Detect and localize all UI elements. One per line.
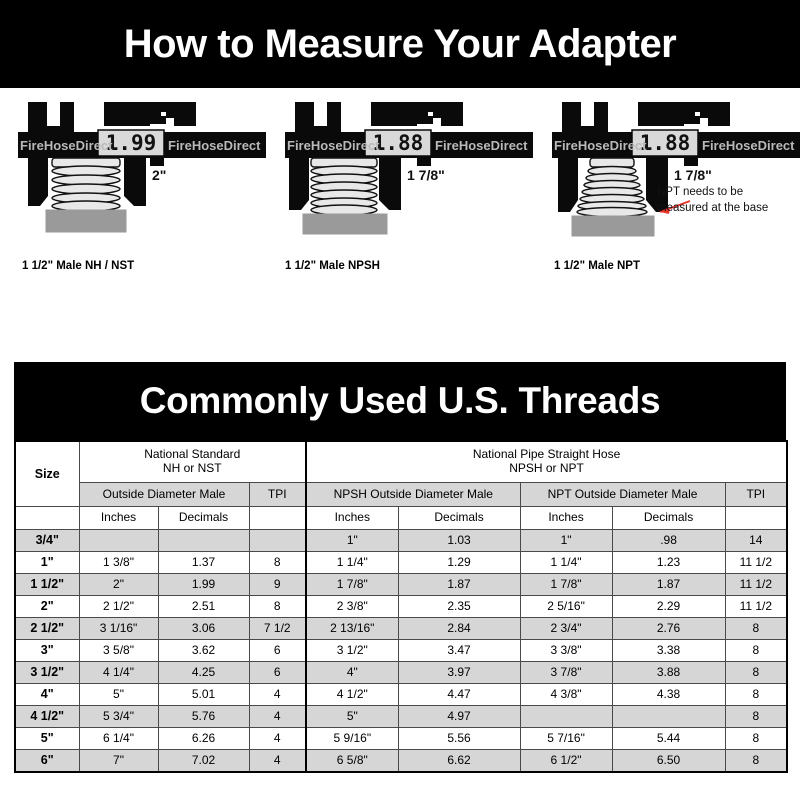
cell-npt-tpi: 11 1/2 (725, 552, 787, 574)
table-row: 6"7"7.0246 5/8"6.626 1/2"6.508 (15, 750, 787, 773)
cell-npsh-decimals: 1.03 (398, 530, 520, 552)
col-group-national-standard: National Standard NH or NST (79, 441, 306, 483)
caliper-illustration-npt: 1.88 FireHoseDirect FireHoseDirect 1 7/8… (534, 88, 800, 268)
table-row: 3"3 5/8"3.6263 1/2"3.473 3/8"3.388 (15, 640, 787, 662)
watermark-left: FireHoseDirect (20, 138, 113, 153)
table-title: Commonly Used U.S. Threads (140, 380, 661, 422)
measurement-label-nh-nst: 2" (152, 167, 166, 183)
cell-npt-decimals: 2.29 (612, 596, 725, 618)
table-row: 3/4"1"1.031".9814 (15, 530, 787, 552)
cell-npt-tpi: 8 (725, 684, 787, 706)
watermark-right: FireHoseDirect (435, 138, 528, 153)
cell-npt-tpi: 8 (725, 662, 787, 684)
cell-npsh-inches: 2 3/8" (306, 596, 398, 618)
diagram-npsh: 1.88 FireHoseDirect FireHoseDirect 1 7/8… (267, 88, 533, 350)
table-row: 1"1 3/8"1.3781 1/4"1.291 1/4"1.2311 1/2 (15, 552, 787, 574)
cell-npsh-decimals: 2.84 (398, 618, 520, 640)
cell-npsh-inches: 4" (306, 662, 398, 684)
cell-nh-inches: 5" (79, 684, 158, 706)
cell-npt-decimals: 1.23 (612, 552, 725, 574)
npt-annotation: NPT needs to be measured at the base (657, 185, 768, 216)
col-header-npsh-inches: Inches (306, 507, 398, 530)
cell-npsh-decimals: 1.29 (398, 552, 520, 574)
caliper-illustration-npsh: 1.88 FireHoseDirect FireHoseDirect 1 7/8… (267, 88, 533, 268)
cell-nh-inches: 5 3/4" (79, 706, 158, 728)
cell-size: 4" (15, 684, 79, 706)
cell-npt-tpi: 11 1/2 (725, 596, 787, 618)
table-header-row-subs: Outside Diameter Male TPI NPSH Outside D… (15, 483, 787, 507)
col-header-nh-decimals: Decimals (158, 507, 249, 530)
cell-nh-inches: 7" (79, 750, 158, 773)
caliper-illustration-nh-nst: 1.99 FireHoseDirect FireHoseDirect 2" (0, 88, 266, 268)
measurement-label-npt: 1 7/8" (674, 167, 712, 183)
cell-nh-decimals: 7.02 (158, 750, 249, 773)
cell-nh-inches: 2" (79, 574, 158, 596)
cell-nh-tpi: 9 (249, 574, 306, 596)
cell-nh-tpi: 6 (249, 662, 306, 684)
cell-npsh-inches: 2 13/16" (306, 618, 398, 640)
cell-size: 3/4" (15, 530, 79, 552)
cell-npsh-inches: 1" (306, 530, 398, 552)
col-header-size: Size (15, 441, 79, 507)
group-line-1: National Standard (80, 448, 306, 462)
table-header-row-units: Inches Decimals Inches Decimals Inches D… (15, 507, 787, 530)
cell-npt-inches: 5 7/16" (520, 728, 612, 750)
diagram-npt: 1.88 FireHoseDirect FireHoseDirect 1 7/8… (534, 88, 800, 350)
cell-nh-tpi: 4 (249, 684, 306, 706)
cell-size: 5" (15, 728, 79, 750)
table-body: 3/4"1"1.031".98141"1 3/8"1.3781 1/4"1.29… (15, 530, 787, 773)
cell-npt-inches: 1" (520, 530, 612, 552)
col-header-npt-inches: Inches (520, 507, 612, 530)
cell-npsh-decimals: 6.62 (398, 750, 520, 773)
cell-npt-inches: 3 3/8" (520, 640, 612, 662)
group-line-2: NH or NST (80, 462, 306, 476)
cell-nh-decimals (158, 530, 249, 552)
page-title: How to Measure Your Adapter (124, 22, 677, 67)
cell-nh-tpi: 7 1/2 (249, 618, 306, 640)
group-line-1: National Pipe Straight Hose (307, 448, 786, 462)
cell-npt-inches: 1 7/8" (520, 574, 612, 596)
cell-npsh-inches: 5" (306, 706, 398, 728)
cell-nh-tpi: 8 (249, 596, 306, 618)
cell-nh-inches: 4 1/4" (79, 662, 158, 684)
cell-npt-tpi: 14 (725, 530, 787, 552)
cell-npsh-inches: 6 5/8" (306, 750, 398, 773)
diagram-nh-nst: 1.99 FireHoseDirect FireHoseDirect 2" 1 … (0, 88, 266, 350)
cell-npt-tpi: 8 (725, 640, 787, 662)
cell-nh-tpi: 4 (249, 750, 306, 773)
cell-nh-tpi: 6 (249, 640, 306, 662)
cell-npsh-decimals: 4.47 (398, 684, 520, 706)
cell-npsh-decimals: 3.97 (398, 662, 520, 684)
table-row: 4"5"5.0144 1/2"4.474 3/8"4.388 (15, 684, 787, 706)
cell-npsh-decimals: 4.97 (398, 706, 520, 728)
cell-nh-tpi: 4 (249, 706, 306, 728)
cell-npsh-decimals: 3.47 (398, 640, 520, 662)
diagram-caption-npt: 1 1/2" Male NPT (534, 260, 800, 272)
cell-npt-decimals: .98 (612, 530, 725, 552)
cell-npt-tpi: 8 (725, 618, 787, 640)
cell-npsh-inches: 1 7/8" (306, 574, 398, 596)
cell-nh-decimals: 1.37 (158, 552, 249, 574)
col-header-npsh-od-male: NPSH Outside Diameter Male (306, 483, 520, 507)
caliper-reading-npsh: 1.88 (373, 131, 424, 155)
cell-npt-decimals: 5.44 (612, 728, 725, 750)
cell-npt-decimals: 1.87 (612, 574, 725, 596)
npt-annotation-line-1: NPT needs to be (657, 185, 768, 201)
cell-size: 1 1/2" (15, 574, 79, 596)
cell-npt-inches (520, 706, 612, 728)
col-header-npt-decimals: Decimals (612, 507, 725, 530)
cell-npsh-inches: 1 1/4" (306, 552, 398, 574)
watermark-right: FireHoseDirect (168, 138, 261, 153)
cell-npt-inches: 6 1/2" (520, 750, 612, 773)
cell-size: 6" (15, 750, 79, 773)
col-header-npt-tpi-blank (725, 507, 787, 530)
col-header-nh-inches: Inches (79, 507, 158, 530)
cell-npt-decimals: 3.88 (612, 662, 725, 684)
cell-npt-decimals: 4.38 (612, 684, 725, 706)
cell-npt-inches: 3 7/8" (520, 662, 612, 684)
table-row: 1 1/2"2"1.9991 7/8"1.871 7/8"1.8711 1/2 (15, 574, 787, 596)
cell-npt-inches: 2 3/4" (520, 618, 612, 640)
watermark-left: FireHoseDirect (554, 138, 647, 153)
cell-nh-inches: 2 1/2" (79, 596, 158, 618)
cell-npt-decimals: 2.76 (612, 618, 725, 640)
cell-npt-tpi: 8 (725, 706, 787, 728)
cell-nh-decimals: 3.06 (158, 618, 249, 640)
cell-npt-tpi: 8 (725, 728, 787, 750)
cell-npt-decimals: 3.38 (612, 640, 725, 662)
cell-nh-inches: 3 5/8" (79, 640, 158, 662)
watermark-left: FireHoseDirect (287, 138, 380, 153)
diagram-caption-npsh: 1 1/2" Male NPSH (267, 260, 533, 272)
cell-npsh-inches: 5 9/16" (306, 728, 398, 750)
col-header-npt-od-male: NPT Outside Diameter Male (520, 483, 725, 507)
cell-npt-tpi: 8 (725, 750, 787, 773)
group-line-2: NPSH or NPT (307, 462, 786, 476)
diagram-caption-nh-nst: 1 1/2" Male NH / NST (0, 260, 266, 272)
col-header-nh-tpi-blank (249, 507, 306, 530)
cell-npt-decimals (612, 706, 725, 728)
watermark-right: FireHoseDirect (702, 138, 795, 153)
page-title-banner: How to Measure Your Adapter (0, 0, 800, 88)
cell-npsh-decimals: 5.56 (398, 728, 520, 750)
cell-size: 2" (15, 596, 79, 618)
cell-size: 3" (15, 640, 79, 662)
threads-table-wrap: Size National Standard NH or NST Nationa… (14, 440, 786, 773)
measurement-label-npsh: 1 7/8" (407, 167, 445, 183)
cell-npt-decimals: 6.50 (612, 750, 725, 773)
table-row: 4 1/2"5 3/4"5.7645"4.978 (15, 706, 787, 728)
col-header-nh-tpi: TPI (249, 483, 306, 507)
table-header-row-groups: Size National Standard NH or NST Nationa… (15, 441, 787, 483)
table-row: 2 1/2"3 1/16"3.067 1/22 13/16"2.842 3/4"… (15, 618, 787, 640)
cell-nh-inches: 3 1/16" (79, 618, 158, 640)
cell-nh-decimals: 3.62 (158, 640, 249, 662)
threads-table: Size National Standard NH or NST Nationa… (14, 440, 788, 773)
table-row: 5"6 1/4"6.2645 9/16"5.565 7/16"5.448 (15, 728, 787, 750)
cell-nh-inches: 6 1/4" (79, 728, 158, 750)
cell-npt-tpi: 11 1/2 (725, 574, 787, 596)
cell-nh-decimals: 5.01 (158, 684, 249, 706)
table-row: 3 1/2"4 1/4"4.2564"3.973 7/8"3.888 (15, 662, 787, 684)
cell-size: 3 1/2" (15, 662, 79, 684)
cell-nh-tpi (249, 530, 306, 552)
cell-npsh-decimals: 2.35 (398, 596, 520, 618)
caliper-reading-nh-nst: 1.99 (106, 131, 157, 155)
cell-nh-tpi: 8 (249, 552, 306, 574)
cell-nh-decimals: 6.26 (158, 728, 249, 750)
cell-nh-decimals: 1.99 (158, 574, 249, 596)
cell-npt-inches: 4 3/8" (520, 684, 612, 706)
cell-size: 1" (15, 552, 79, 574)
cell-nh-inches (79, 530, 158, 552)
diagram-strip: 1.99 FireHoseDirect FireHoseDirect 2" 1 … (0, 88, 800, 350)
cell-nh-inches: 1 3/8" (79, 552, 158, 574)
cell-npsh-inches: 3 1/2" (306, 640, 398, 662)
cell-npsh-inches: 4 1/2" (306, 684, 398, 706)
cell-nh-tpi: 4 (249, 728, 306, 750)
cell-nh-decimals: 5.76 (158, 706, 249, 728)
npt-annotation-line-2: measured at the base (657, 201, 768, 217)
col-header-npsh-decimals: Decimals (398, 507, 520, 530)
cell-npt-inches: 1 1/4" (520, 552, 612, 574)
col-group-national-pipe-straight-hose: National Pipe Straight Hose NPSH or NPT (306, 441, 787, 483)
cell-size: 4 1/2" (15, 706, 79, 728)
caliper-reading-npt: 1.88 (640, 131, 691, 155)
cell-nh-decimals: 2.51 (158, 596, 249, 618)
cell-nh-decimals: 4.25 (158, 662, 249, 684)
cell-size: 2 1/2" (15, 618, 79, 640)
cell-npsh-decimals: 1.87 (398, 574, 520, 596)
col-header-unit-blank (15, 507, 79, 530)
cell-npt-inches: 2 5/16" (520, 596, 612, 618)
col-header-npt-tpi: TPI (725, 483, 787, 507)
table-title-banner: Commonly Used U.S. Threads (14, 362, 786, 440)
table-row: 2"2 1/2"2.5182 3/8"2.352 5/16"2.2911 1/2 (15, 596, 787, 618)
col-header-nh-od-male: Outside Diameter Male (79, 483, 249, 507)
